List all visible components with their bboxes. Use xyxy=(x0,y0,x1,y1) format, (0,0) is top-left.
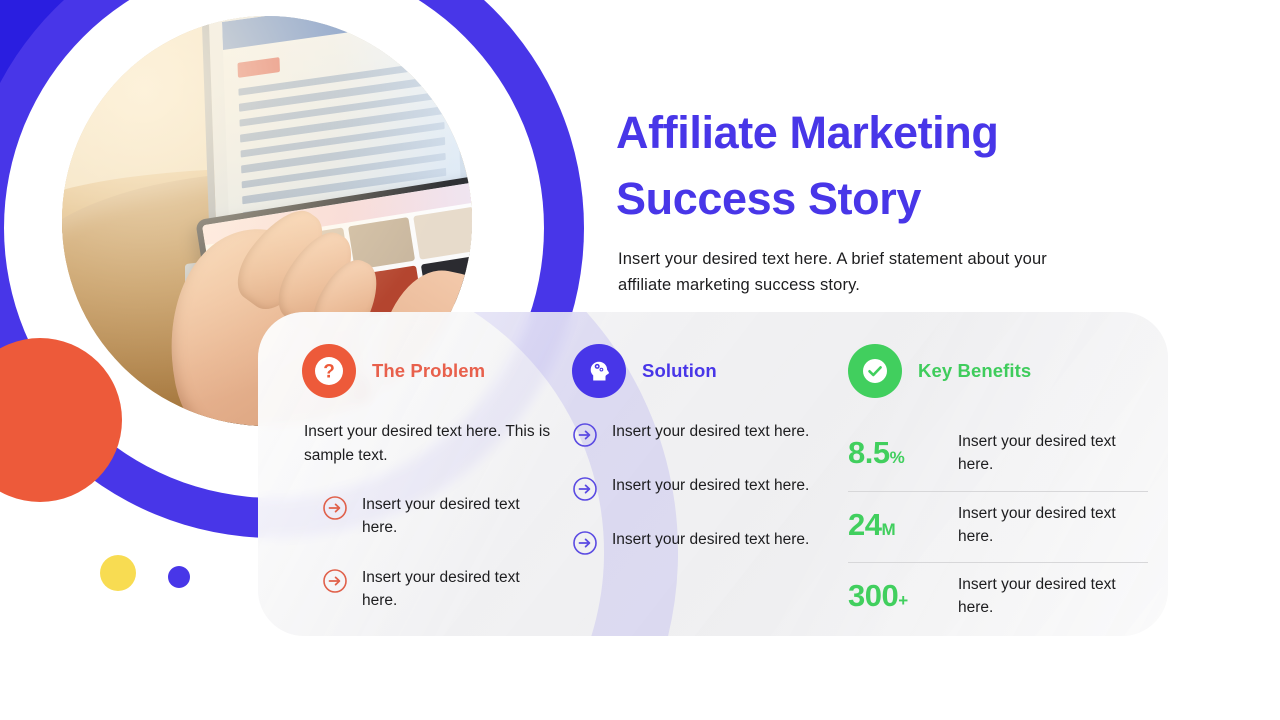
column-benefits-title: Key Benefits xyxy=(918,360,1031,382)
content-panel: ? The Problem Insert your desired text h… xyxy=(258,312,1168,636)
stat-number: 24 xyxy=(848,507,881,542)
list-item[interactable]: Insert your desired text here. xyxy=(572,420,816,448)
list-item[interactable]: Insert your desired text here. xyxy=(322,493,542,540)
arrow-right-circle-icon xyxy=(322,568,348,594)
column-problem-header: ? The Problem xyxy=(302,344,542,398)
stat-unit: M xyxy=(881,520,895,539)
list-item-text: Insert your desired text here. xyxy=(362,566,542,613)
blue-dot-shape xyxy=(168,566,190,588)
stat-unit: % xyxy=(890,448,905,467)
column-problem: ? The Problem Insert your desired text h… xyxy=(258,312,558,636)
column-solution-title: Solution xyxy=(642,360,717,382)
stat-label: Insert your desired text here. xyxy=(958,430,1148,477)
arrow-right-circle-icon xyxy=(572,422,598,448)
stat-value: 8.5% xyxy=(848,435,944,471)
stat-value: 24M xyxy=(848,507,944,543)
list-item-text: Insert your desired text here. xyxy=(612,474,809,497)
svg-text:?: ? xyxy=(323,362,335,383)
list-item[interactable]: Insert your desired text here. xyxy=(572,474,816,502)
stat-row: 8.5% Insert your desired text here. xyxy=(848,420,1148,491)
photo-laptop xyxy=(201,16,472,268)
list-item-text: Insert your desired text here. xyxy=(612,528,809,551)
stat-label: Insert your desired text here. xyxy=(958,502,1148,549)
list-item-text: Insert your desired text here. xyxy=(612,420,809,443)
stat-label: Insert your desired text here. xyxy=(958,573,1148,620)
column-benefits: Key Benefits 8.5% Insert your desired te… xyxy=(826,312,1168,636)
yellow-dot-shape xyxy=(100,555,136,591)
check-circle-icon xyxy=(848,344,902,398)
blue-corner-block xyxy=(0,0,240,320)
question-mark-icon: ? xyxy=(302,344,356,398)
stat-number: 8.5 xyxy=(848,435,890,470)
stat-value: 300+ xyxy=(848,578,944,614)
column-solution: Solution Insert your desired text here. xyxy=(558,312,826,636)
stat-row: 24M Insert your desired text here. xyxy=(848,491,1148,563)
page-subtitle: Insert your desired text here. A brief s… xyxy=(618,246,1088,298)
stat-row: 300+ Insert your desired text here. xyxy=(848,562,1148,634)
arrow-right-circle-icon xyxy=(322,495,348,521)
arrow-right-circle-icon xyxy=(572,530,598,556)
head-with-gears-icon xyxy=(572,344,626,398)
column-problem-title: The Problem xyxy=(372,360,485,382)
page-title: Affiliate Marketing Success Story xyxy=(616,100,1136,231)
column-problem-intro: Insert your desired text here. This is s… xyxy=(304,420,554,467)
list-item[interactable]: Insert your desired text here. xyxy=(572,528,816,556)
slide-canvas: Affiliate Marketing Success Story Insert… xyxy=(0,0,1280,720)
stat-number: 300 xyxy=(848,578,898,613)
list-item[interactable]: Insert your desired text here. xyxy=(322,566,542,613)
stat-unit: + xyxy=(898,591,907,610)
column-benefits-header: Key Benefits xyxy=(848,344,1148,398)
column-solution-header: Solution xyxy=(572,344,816,398)
list-item-text: Insert your desired text here. xyxy=(362,493,542,540)
orange-circle-shape xyxy=(0,338,122,502)
arrow-right-circle-icon xyxy=(572,476,598,502)
